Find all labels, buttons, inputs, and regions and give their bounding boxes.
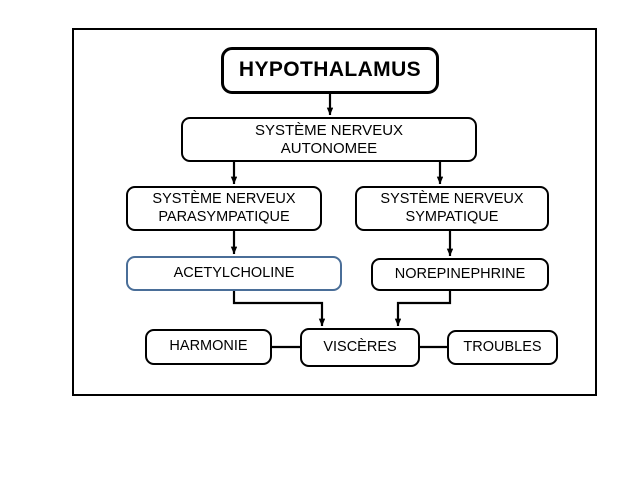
node-visceres: VISCÈRES [300,328,420,367]
node-harmonie: HARMONIE [145,329,272,365]
node-troubles: TROUBLES [447,330,558,365]
node-acetylcholine: ACETYLCHOLINE [126,256,342,291]
diagram-canvas: HYPOTHALAMUS SYSTÈME NERVEUX AUTONOMEE S… [0,0,640,480]
node-systeme-nerveux-parasympatique: SYSTÈME NERVEUX PARASYMPATIQUE [126,186,322,231]
node-systeme-nerveux-sympatique: SYSTÈME NERVEUX SYMPATIQUE [355,186,549,231]
node-systeme-nerveux-autonomee: SYSTÈME NERVEUX AUTONOMEE [181,117,477,162]
node-hypothalamus: HYPOTHALAMUS [221,47,439,94]
node-norepinephrine: NOREPINEPHRINE [371,258,549,291]
